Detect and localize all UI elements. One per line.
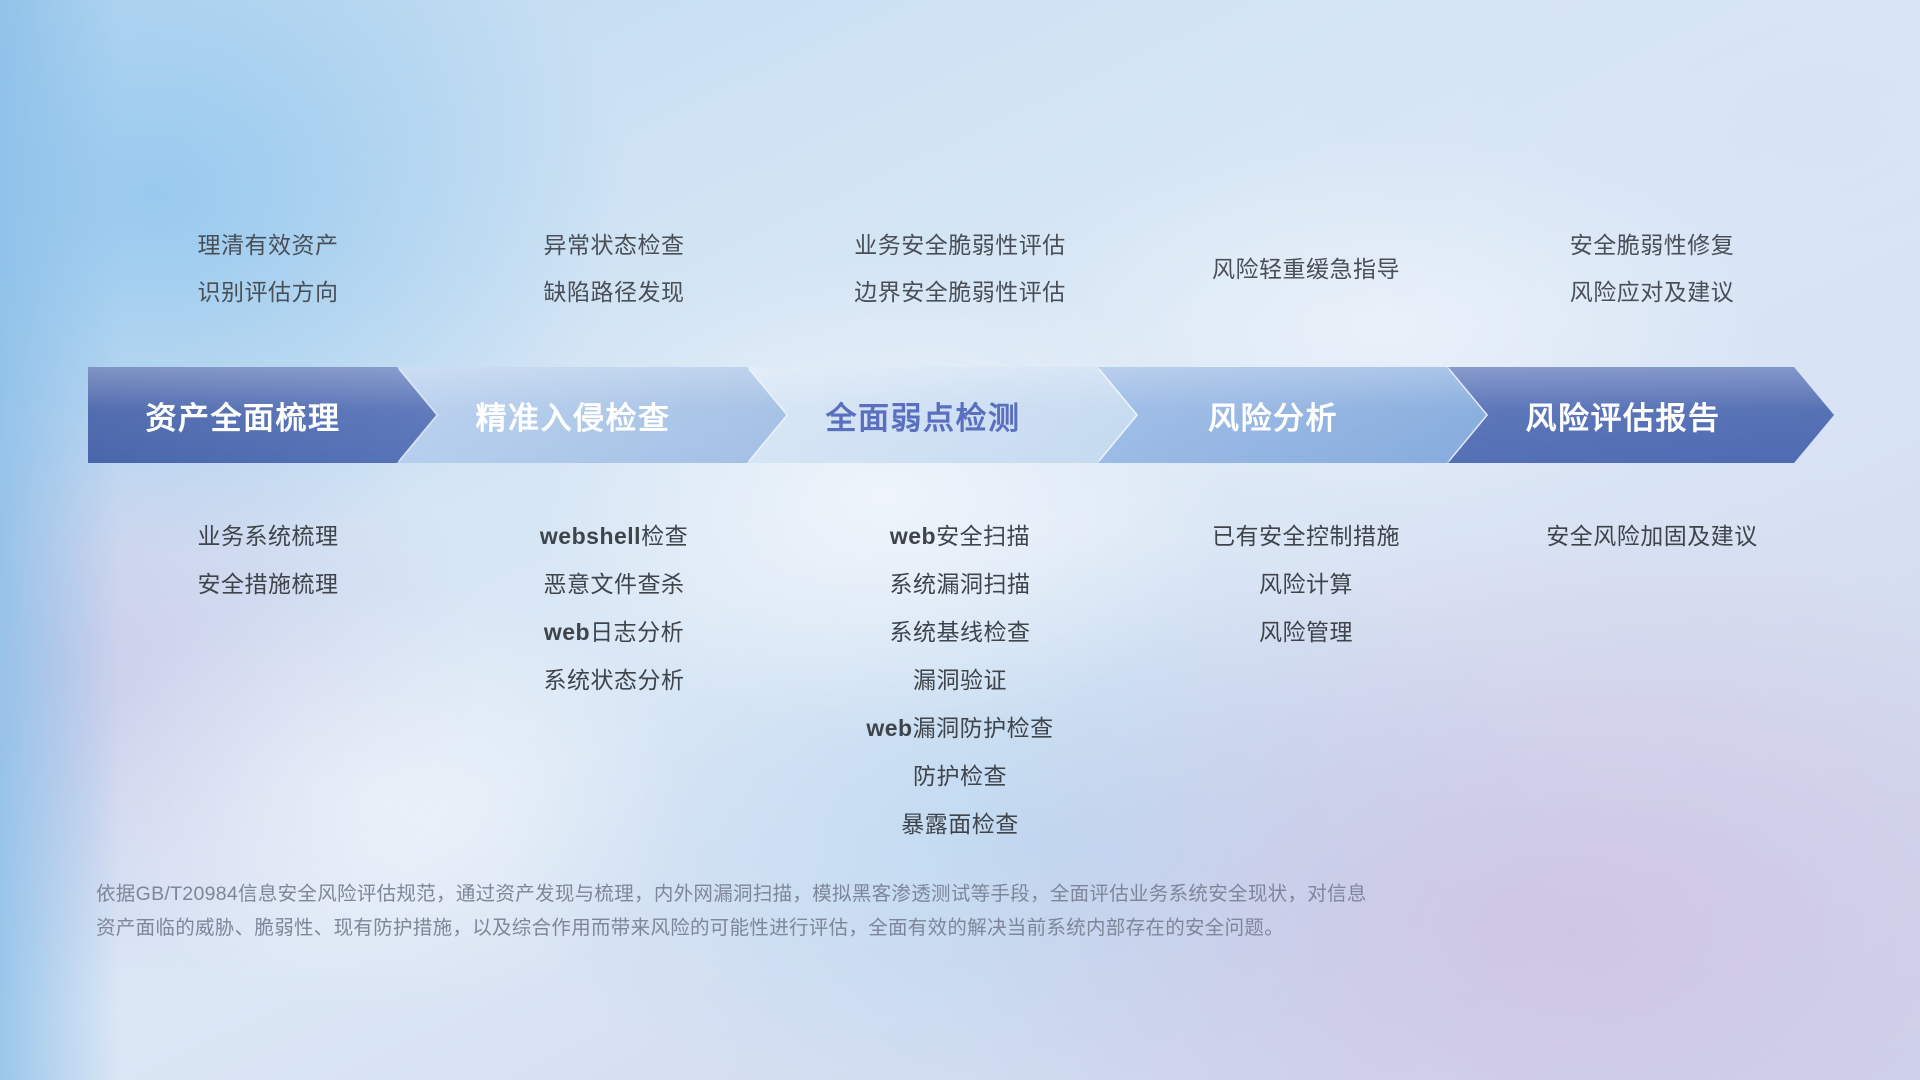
bottom-item: 恶意文件查杀 bbox=[544, 560, 685, 608]
bottom-item-zh: 日志分析 bbox=[590, 619, 684, 645]
bottom-item-latin: webshell bbox=[540, 523, 641, 549]
top-column-stage-5: 安全脆弱性修复 风险应对及建议 bbox=[1479, 222, 1825, 316]
bottom-item: 系统基线检查 bbox=[890, 608, 1031, 656]
process-arrow-ribbon bbox=[88, 367, 1834, 463]
bottom-item: 安全风险加固及建议 bbox=[1546, 512, 1758, 560]
top-item: 识别评估方向 bbox=[198, 269, 339, 316]
bottom-item-zh: 业务系统梳理 bbox=[198, 523, 339, 549]
bottom-item-zh: 暴露面检查 bbox=[901, 811, 1019, 837]
top-outcomes-row: 理清有效资产 识别评估方向 异常状态检查 缺陷路径发现 业务安全脆弱性评估 边界… bbox=[95, 222, 1825, 316]
bottom-item-latin: web bbox=[890, 523, 936, 549]
top-item: 异常状态检查 bbox=[544, 222, 685, 269]
bottom-item: web安全扫描 bbox=[890, 512, 1030, 560]
bottom-item: web漏洞防护检查 bbox=[866, 704, 1053, 752]
bottom-column-stage-2: webshell检查 恶意文件查杀 web日志分析 系统状态分析 bbox=[441, 512, 787, 704]
bottom-item-zh: 风险计算 bbox=[1259, 571, 1353, 597]
bottom-item-zh: 系统状态分析 bbox=[544, 667, 685, 693]
bottom-item: 已有安全控制措施 bbox=[1212, 512, 1400, 560]
bottom-item: 漏洞验证 bbox=[913, 656, 1007, 704]
top-item: 安全脆弱性修复 bbox=[1570, 222, 1735, 269]
bottom-item-zh: 检查 bbox=[641, 523, 688, 549]
top-item: 边界安全脆弱性评估 bbox=[854, 269, 1066, 316]
bottom-item-zh: 漏洞验证 bbox=[913, 667, 1007, 693]
bottom-item: webshell检查 bbox=[540, 512, 688, 560]
top-column-stage-4: 风险轻重缓急指导 bbox=[1133, 222, 1479, 293]
bottom-item: 风险管理 bbox=[1259, 608, 1353, 656]
bottom-item-zh: 安全扫描 bbox=[936, 523, 1030, 549]
bottom-activities-row: 业务系统梳理 安全措施梳理 webshell检查 恶意文件查杀 web日志分析 … bbox=[95, 512, 1825, 848]
bottom-item-latin: web bbox=[544, 619, 590, 645]
bottom-item-zh: 漏洞防护检查 bbox=[913, 715, 1054, 741]
top-item: 业务安全脆弱性评估 bbox=[854, 222, 1066, 269]
top-item: 理清有效资产 bbox=[198, 222, 339, 269]
infographic-stage: 理清有效资产 识别评估方向 异常状态检查 缺陷路径发现 业务安全脆弱性评估 边界… bbox=[0, 0, 1920, 1080]
bottom-item: 系统状态分析 bbox=[544, 656, 685, 704]
bottom-column-stage-4: 已有安全控制措施 风险计算 风险管理 bbox=[1133, 512, 1479, 656]
top-item: 风险轻重缓急指导 bbox=[1212, 246, 1400, 293]
bottom-item-zh: 安全措施梳理 bbox=[198, 571, 339, 597]
bottom-item: 业务系统梳理 bbox=[198, 512, 339, 560]
bottom-item-zh: 风险管理 bbox=[1259, 619, 1353, 645]
bottom-item: 暴露面检查 bbox=[901, 800, 1019, 848]
bottom-column-stage-1: 业务系统梳理 安全措施梳理 bbox=[95, 512, 441, 608]
bottom-item: 系统漏洞扫描 bbox=[890, 560, 1031, 608]
top-column-stage-3: 业务安全脆弱性评估 边界安全脆弱性评估 bbox=[787, 222, 1133, 316]
bottom-item-zh: 恶意文件查杀 bbox=[544, 571, 685, 597]
bottom-column-stage-5: 安全风险加固及建议 bbox=[1479, 512, 1825, 560]
bottom-item-zh: 安全风险加固及建议 bbox=[1546, 523, 1758, 549]
top-item: 缺陷路径发现 bbox=[544, 269, 685, 316]
bottom-item-zh: 防护检查 bbox=[913, 763, 1007, 789]
bottom-item: 风险计算 bbox=[1259, 560, 1353, 608]
footer-description: 依据GB/T20984信息安全风险评估规范，通过资产发现与梳理，内外网漏洞扫描，… bbox=[96, 877, 1636, 945]
top-column-stage-2: 异常状态检查 缺陷路径发现 bbox=[441, 222, 787, 316]
bottom-item-zh: 系统漏洞扫描 bbox=[890, 571, 1031, 597]
bottom-item-zh: 已有安全控制措施 bbox=[1212, 523, 1400, 549]
bottom-item-zh: 系统基线检查 bbox=[890, 619, 1031, 645]
footer-line-2: 资产面临的威胁、脆弱性、现有防护措施，以及综合作用而带来风险的可能性进行评估，全… bbox=[96, 911, 1636, 945]
bottom-item: 安全措施梳理 bbox=[198, 560, 339, 608]
top-column-stage-1: 理清有效资产 识别评估方向 bbox=[95, 222, 441, 316]
bottom-column-stage-3: web安全扫描 系统漏洞扫描 系统基线检查 漏洞验证 web漏洞防护检查 防护检… bbox=[787, 512, 1133, 848]
bottom-item: web日志分析 bbox=[544, 608, 684, 656]
arrow-segments bbox=[88, 367, 1834, 463]
bottom-item: 防护检查 bbox=[913, 752, 1007, 800]
bottom-item-latin: web bbox=[866, 715, 912, 741]
top-item: 风险应对及建议 bbox=[1570, 269, 1735, 316]
footer-line-1: 依据GB/T20984信息安全风险评估规范，通过资产发现与梳理，内外网漏洞扫描，… bbox=[96, 877, 1636, 911]
